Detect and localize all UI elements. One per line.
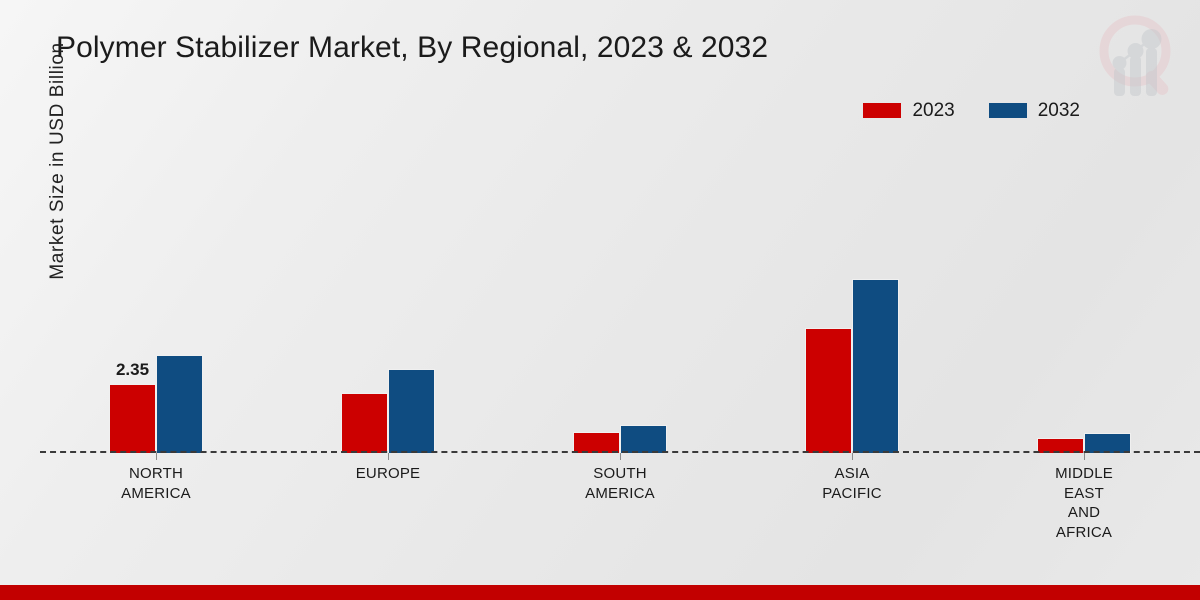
legend-swatch-2023-icon bbox=[863, 103, 901, 118]
x-label-asia-pacific: ASIA PACIFIC bbox=[822, 464, 881, 503]
bars-asia-pacific bbox=[805, 140, 899, 453]
bar-group-south-america bbox=[504, 140, 736, 453]
x-label-line: AND bbox=[1055, 503, 1113, 523]
bar-group-asia-pacific bbox=[736, 140, 968, 453]
bar-north-america-2032[interactable] bbox=[156, 355, 203, 453]
x-label-line: AMERICA bbox=[121, 484, 191, 504]
legend-label-2032: 2032 bbox=[1038, 101, 1080, 120]
tick-mark-icon bbox=[1084, 453, 1085, 460]
x-tick-south-america: SOUTH AMERICA bbox=[504, 453, 736, 553]
tick-mark-icon bbox=[388, 453, 389, 460]
x-label-line: ASIA bbox=[822, 464, 881, 484]
bars-europe bbox=[341, 140, 435, 453]
x-tick-middle-east-and-africa: MIDDLE EAST AND AFRICA bbox=[968, 453, 1200, 553]
bar-middle-east-and-africa-2032[interactable] bbox=[1084, 433, 1131, 453]
chart-screenshot: Polymer Stabilizer Market, By Regional, … bbox=[0, 0, 1200, 600]
bar-groups: 2.35 bbox=[40, 140, 1200, 453]
bar-value-north-america-2023: 2.35 bbox=[116, 360, 149, 380]
legend-item-2023[interactable]: 2023 bbox=[863, 101, 954, 120]
x-label-north-america: NORTH AMERICA bbox=[121, 464, 191, 503]
bottom-accent-band bbox=[0, 585, 1200, 600]
x-label-line: EUROPE bbox=[356, 464, 421, 484]
x-label-line: NORTH bbox=[121, 464, 191, 484]
bars-north-america: 2.35 bbox=[109, 140, 203, 453]
bar-group-middle-east-and-africa bbox=[968, 140, 1200, 453]
x-tick-europe: EUROPE bbox=[272, 453, 504, 553]
bar-asia-pacific-2023[interactable] bbox=[805, 328, 852, 453]
bar-north-america-2023[interactable]: 2.35 bbox=[109, 384, 156, 453]
bar-south-america-2023[interactable] bbox=[573, 432, 620, 453]
x-label-line: EAST bbox=[1055, 484, 1113, 504]
bar-group-north-america: 2.35 bbox=[40, 140, 272, 453]
legend-swatch-2032-icon bbox=[989, 103, 1027, 118]
plot-area: 2.35 bbox=[40, 140, 1200, 453]
chart-legend: 2023 2032 bbox=[863, 101, 1080, 120]
bar-europe-2032[interactable] bbox=[388, 369, 435, 453]
tick-mark-icon bbox=[620, 453, 621, 460]
x-label-line: SOUTH bbox=[585, 464, 655, 484]
bars-middle-east-and-africa bbox=[1037, 140, 1131, 453]
x-axis-categories: NORTH AMERICA EUROPE SOUTH AMERICA ASIA … bbox=[40, 453, 1200, 553]
bars-south-america bbox=[573, 140, 667, 453]
bar-group-europe bbox=[272, 140, 504, 453]
x-label-line: PACIFIC bbox=[822, 484, 881, 504]
x-label-middle-east-and-africa: MIDDLE EAST AND AFRICA bbox=[1055, 464, 1113, 542]
x-label-line: AMERICA bbox=[585, 484, 655, 504]
chart-title: Polymer Stabilizer Market, By Regional, … bbox=[56, 31, 768, 65]
bar-asia-pacific-2032[interactable] bbox=[852, 279, 899, 453]
legend-label-2023: 2023 bbox=[912, 101, 954, 120]
market-research-magnifier-logo bbox=[1088, 6, 1184, 106]
x-label-line: MIDDLE bbox=[1055, 464, 1113, 484]
legend-item-2032[interactable]: 2032 bbox=[989, 101, 1080, 120]
x-tick-asia-pacific: ASIA PACIFIC bbox=[736, 453, 968, 553]
x-label-europe: EUROPE bbox=[356, 464, 421, 484]
tick-mark-icon bbox=[156, 453, 157, 460]
bar-south-america-2032[interactable] bbox=[620, 425, 667, 453]
tick-mark-icon bbox=[852, 453, 853, 460]
bar-europe-2023[interactable] bbox=[341, 393, 388, 453]
x-tick-north-america: NORTH AMERICA bbox=[40, 453, 272, 553]
x-label-line: AFRICA bbox=[1055, 523, 1113, 543]
x-label-south-america: SOUTH AMERICA bbox=[585, 464, 655, 503]
